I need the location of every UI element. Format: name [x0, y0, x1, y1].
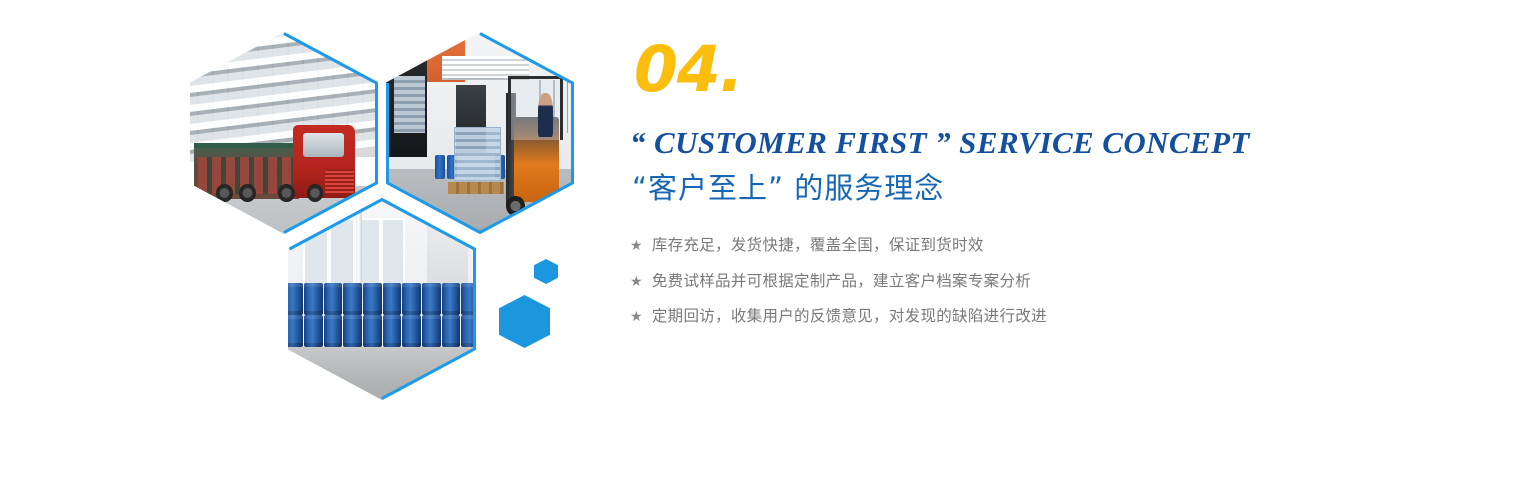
list-item: ★ 库存充足，发货快捷，覆盖全国，保证到货时效: [630, 238, 1490, 274]
section-number: 04.: [634, 38, 1490, 101]
list-item: ★ 免费试样品并可根据定制产品，建立客户档案专案分析: [630, 274, 1490, 310]
list-item-label: 库存充足，发货快捷，覆盖全国，保证到货时效: [652, 238, 984, 254]
headline-chinese: “客户至上” 的服务理念: [632, 167, 1490, 211]
loading-photo-image: [386, 32, 574, 234]
list-item: ★ 定期回访，收集用户的反馈意见，对发现的缺陷进行改进: [630, 309, 1490, 325]
star-icon: ★: [630, 238, 643, 252]
truck-photo-image: [190, 32, 378, 234]
truck-photo: [190, 32, 378, 234]
loading-photo: [386, 32, 574, 234]
star-icon: ★: [630, 274, 643, 288]
list-item-label: 定期回访，收集用户的反馈意见，对发现的缺陷进行改进: [652, 309, 1047, 325]
drums-photo: [288, 198, 476, 400]
drums-photo-image: [288, 198, 476, 400]
headline-english: “ CUSTOMER FIRST ” SERVICE CONCEPT: [630, 125, 1490, 161]
list-item-label: 免费试样品并可根据定制产品，建立客户档案专案分析: [652, 274, 1031, 290]
star-icon: ★: [630, 309, 643, 323]
content-column: 04. “ CUSTOMER FIRST ” SERVICE CONCEPT “…: [630, 38, 1490, 325]
feature-list: ★ 库存充足，发货快捷，覆盖全国，保证到货时效 ★ 免费试样品并可根据定制产品，…: [630, 238, 1490, 325]
service-concept-banner: 04. “ CUSTOMER FIRST ” SERVICE CONCEPT “…: [0, 0, 1525, 477]
